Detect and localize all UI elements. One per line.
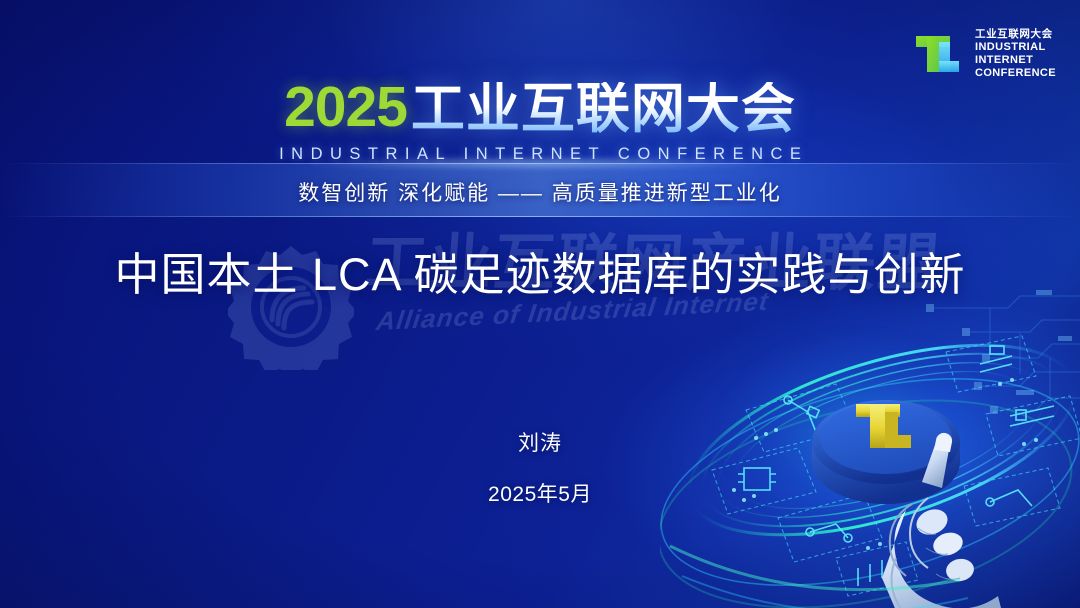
conference-slogan: 数智创新 深化赋能 —— 高质量推进新型工业化 — [0, 177, 1080, 207]
conference-name-en: INDUSTRIAL INTERNET CONFERENCE — [0, 145, 1080, 164]
conference-lockup: 2025 工业互联网大会 INDUSTRIAL INTERNET CONFERE… — [0, 74, 1080, 164]
conference-name-cn: 工业互联网大会 — [411, 82, 796, 136]
illustration-glow — [670, 298, 1050, 568]
conference-logo-en-1: INDUSTRIAL — [975, 41, 1056, 54]
conference-logo-en-2: INTERNET — [975, 54, 1056, 67]
conference-year: 2025 — [284, 79, 407, 136]
page-title: 中国本土 LCA 碳足迹数据库的实践与创新 — [0, 238, 1080, 303]
slogan-band-bottom-rule — [0, 216, 1080, 217]
conference-logo-text: 工业互联网大会 INDUSTRIAL INTERNET CONFERENCE — [975, 28, 1056, 79]
conference-lockup-row: 2025 工业互联网大会 — [0, 74, 1080, 136]
conference-t-logo-icon — [912, 28, 964, 80]
title-slide: 工业互联网产业联盟 Alliance of Industrial Interne… — [0, 0, 1080, 608]
conference-logo-cn: 工业互联网大会 — [975, 28, 1056, 40]
conference-logo: 工业互联网大会 INDUSTRIAL INTERNET CONFERENCE — [912, 28, 1056, 80]
